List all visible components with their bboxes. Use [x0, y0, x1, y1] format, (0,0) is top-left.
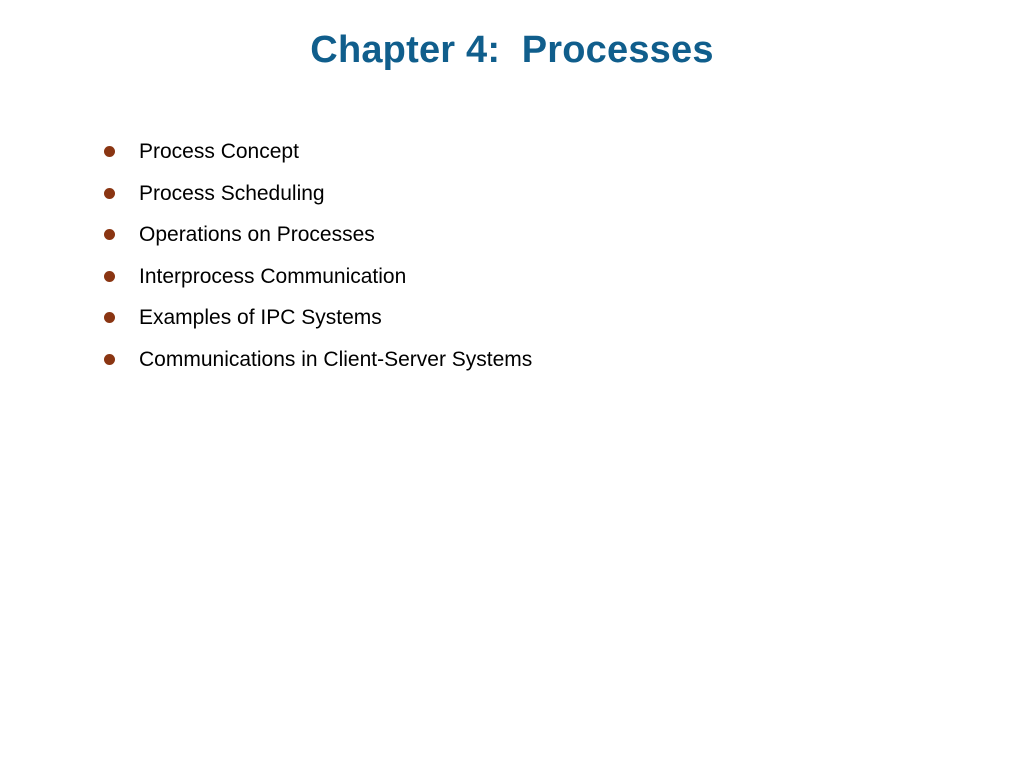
list-item: Examples of IPC Systems: [104, 297, 984, 339]
list-item-label: Process Scheduling: [139, 181, 325, 206]
filled-circle-bullet-icon: [104, 354, 115, 365]
list-item: Process Scheduling: [104, 173, 984, 215]
list-item: Communications in Client-Server Systems: [104, 339, 984, 381]
list-item-label: Process Concept: [139, 139, 299, 164]
bullet-list: Process Concept Process Scheduling Opera…: [104, 131, 984, 380]
filled-circle-bullet-icon: [104, 312, 115, 323]
list-item-label: Examples of IPC Systems: [139, 305, 382, 330]
list-item: Operations on Processes: [104, 214, 984, 256]
filled-circle-bullet-icon: [104, 188, 115, 199]
filled-circle-bullet-icon: [104, 229, 115, 240]
list-item-label: Interprocess Communication: [139, 264, 406, 289]
filled-circle-bullet-icon: [104, 271, 115, 282]
list-item: Interprocess Communication: [104, 256, 984, 298]
list-item-label: Operations on Processes: [139, 222, 375, 247]
slide-canvas: Chapter 4: Processes Process Concept Pro…: [0, 0, 1024, 768]
list-item: Process Concept: [104, 131, 984, 173]
filled-circle-bullet-icon: [104, 146, 115, 157]
list-item-label: Communications in Client-Server Systems: [139, 347, 532, 372]
page-title: Chapter 4: Processes: [0, 30, 1024, 72]
